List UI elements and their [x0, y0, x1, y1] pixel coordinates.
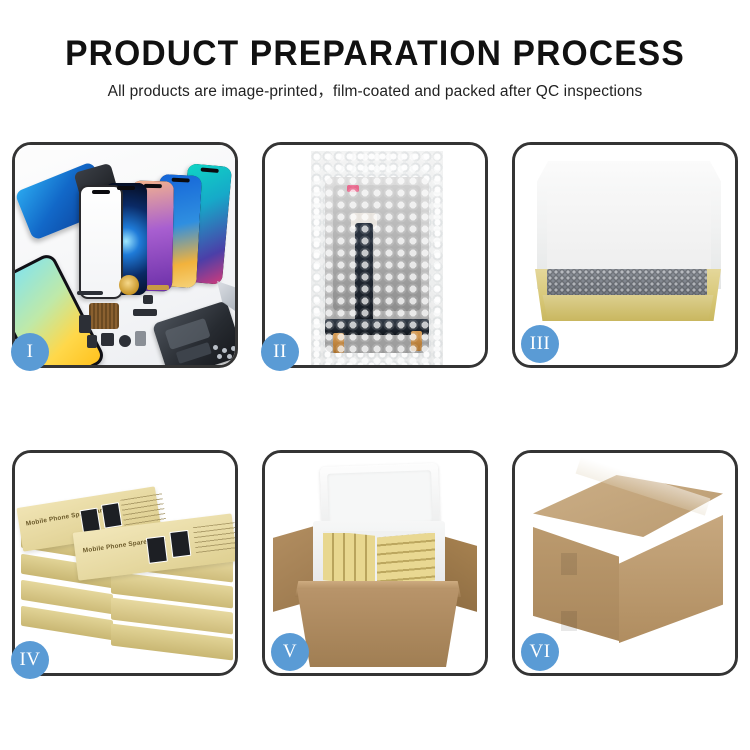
step-badge-4: IV	[11, 641, 49, 679]
product-photo	[101, 502, 123, 529]
small-part	[87, 335, 97, 348]
small-part	[79, 315, 91, 333]
screws-group	[213, 345, 235, 359]
step-4-image: Mobile Phone Spare Parts Mobile Phone Sp…	[15, 453, 235, 673]
page-title: PRODUCT PREPARATION PROCESS	[15, 34, 735, 74]
product-photo	[169, 530, 191, 558]
small-part	[147, 285, 169, 290]
small-part	[133, 309, 157, 316]
small-part	[119, 335, 131, 347]
step-badge-2: II	[261, 333, 299, 371]
box-spec-lines	[193, 522, 235, 555]
spare-parts-group	[85, 273, 235, 365]
step-panel-3: III	[512, 142, 738, 368]
step-panel-1: I	[12, 142, 238, 368]
packed-boxes-left	[323, 533, 375, 583]
packed-boxes-right	[377, 533, 435, 583]
step-badge-1: I	[11, 333, 49, 371]
header: PRODUCT PREPARATION PROCESS All products…	[0, 0, 750, 103]
carton-handle-hole	[561, 553, 577, 575]
page-subtitle: All products are image-printed，film-coat…	[0, 81, 750, 103]
carton-body	[297, 589, 459, 667]
product-photo	[146, 536, 168, 564]
step-badge-6: VI	[521, 633, 559, 671]
step-panel-2: II	[262, 142, 488, 368]
box-stack: Mobile Phone Spare Parts Mobile Phone Sp…	[19, 479, 235, 665]
step-panel-4: Mobile Phone Spare Parts Mobile Phone Sp…	[12, 450, 238, 676]
small-part	[101, 333, 114, 346]
step-panel-6: VI	[512, 450, 738, 676]
phone-fan-group	[71, 163, 235, 287]
coil-part	[119, 275, 139, 295]
small-part	[135, 331, 146, 346]
step-badge-3: III	[521, 325, 559, 363]
steps-grid: I II	[12, 142, 738, 690]
product-preparation-infographic: PRODUCT PREPARATION PROCESS All products…	[0, 0, 750, 750]
small-part	[143, 295, 153, 304]
step-1-image	[15, 145, 235, 365]
step-panel-5: V	[262, 450, 488, 676]
bubble-wrap-bag	[311, 151, 443, 365]
pcb-grid-part	[89, 303, 119, 329]
step-2-image	[265, 145, 485, 365]
small-part	[77, 291, 103, 295]
packed-boxes	[323, 533, 435, 583]
bubble-texture	[311, 151, 443, 365]
carton-handle-hole	[561, 611, 577, 631]
step-badge-5: V	[271, 633, 309, 671]
kraft-tray-front	[539, 295, 717, 321]
